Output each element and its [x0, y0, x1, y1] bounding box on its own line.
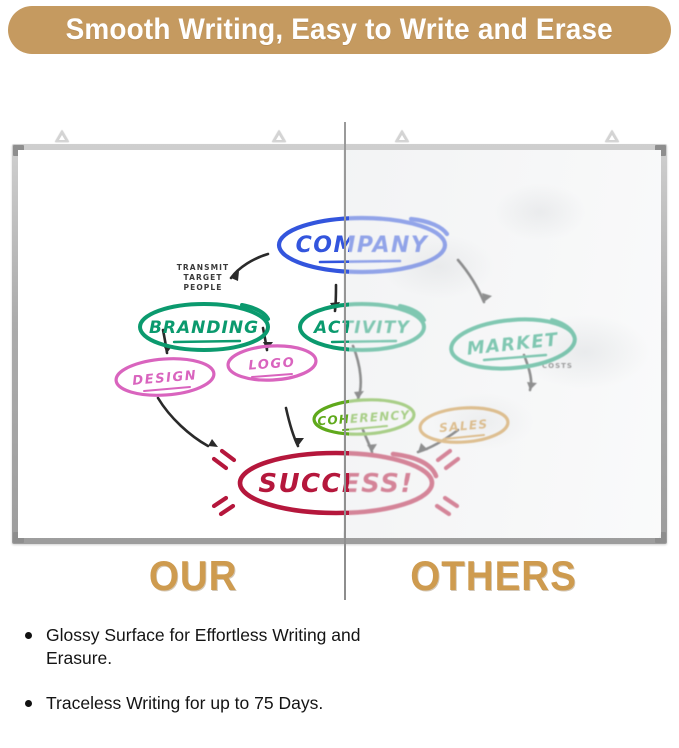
- feature-list: Glossy Surface for Effortless Writing an…: [0, 624, 679, 737]
- svg-text:SALES: SALES: [439, 417, 489, 435]
- bullet-dot-icon: [25, 700, 32, 707]
- whiteboard-section: TRANSMIT TARGET PEOPLE COSTS COMPANY: [0, 118, 679, 538]
- svg-text:BRANDING: BRANDING: [149, 318, 259, 338]
- header-title: Smooth Writing, Easy to Write and Erase: [66, 13, 613, 47]
- wall-hook-icon-2: [272, 130, 286, 142]
- whiteboard-surface: TRANSMIT TARGET PEOPLE COSTS COMPANY: [18, 150, 661, 538]
- feature-item-1: Glossy Surface for Effortless Writing an…: [0, 624, 376, 670]
- mindmap-drawing: TRANSMIT TARGET PEOPLE COSTS COMPANY: [18, 150, 661, 538]
- label-others: OTHERS: [410, 552, 577, 600]
- wall-hook-icon-1: [55, 130, 69, 142]
- bullet-dot-icon: [25, 632, 32, 639]
- whiteboard-frame: TRANSMIT TARGET PEOPLE COSTS COMPANY: [12, 144, 667, 544]
- node-branding: BRANDING: [140, 304, 268, 350]
- comparison-labels: OUR OTHERS: [0, 552, 679, 604]
- comparison-divider: [344, 122, 346, 600]
- note-line-1: TRANSMIT: [177, 263, 230, 272]
- feature-text-2: Traceless Writing for up to 75 Days.: [46, 693, 323, 713]
- node-design: DESIGN: [115, 356, 215, 399]
- feature-item-2: Traceless Writing for up to 75 Days.: [0, 692, 376, 715]
- header-banner: Smooth Writing, Easy to Write and Erase: [8, 6, 671, 54]
- wall-hook-icon-4: [605, 130, 619, 142]
- svg-text:LOGO: LOGO: [248, 355, 296, 373]
- feature-text-1: Glossy Surface for Effortless Writing an…: [46, 625, 360, 668]
- svg-text:DESIGN: DESIGN: [132, 368, 198, 389]
- node-logo: LOGO: [227, 344, 317, 383]
- note-line-3: PEOPLE: [184, 283, 223, 292]
- note-line-2: TARGET: [183, 273, 222, 282]
- label-our: OUR: [149, 552, 238, 600]
- wall-hook-icon-3: [395, 130, 409, 142]
